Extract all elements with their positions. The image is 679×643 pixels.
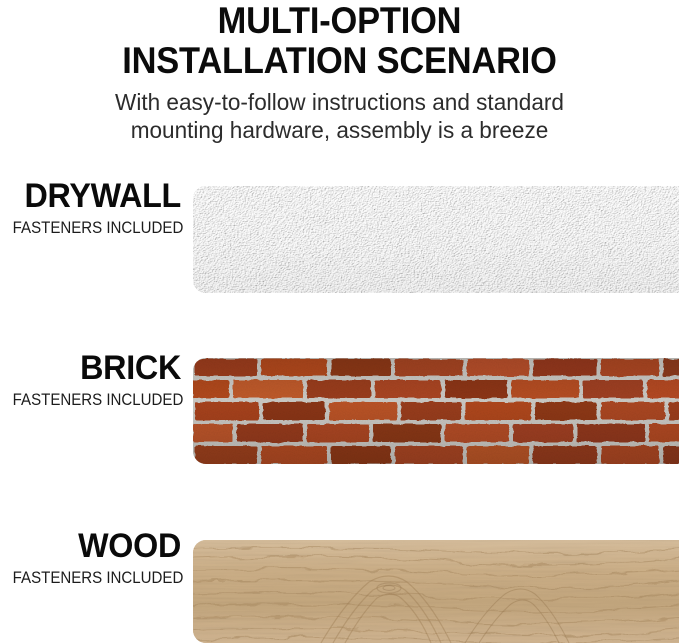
drywall-texture-swatch [193,186,679,293]
wood-material-name: WOOD [9,528,181,564]
brick-texture-swatch [193,358,679,464]
drywall-material-name: DRYWALL [9,178,181,214]
wood-texture-swatch [193,540,679,643]
installation-scenario-infographic: MULTI-OPTION INSTALLATION SCENARIO With … [0,0,679,643]
subtitle-line-2: mounting hardware, assembly is a breeze [14,116,666,144]
page-subtitle: With easy-to-follow instructions and sta… [14,81,666,144]
wood-label-column: WOOD FASTENERS INCLUDED [0,528,181,588]
header-block: MULTI-OPTION INSTALLATION SCENARIO With … [0,0,679,144]
title-line-1: MULTI-OPTION [24,1,655,41]
brick-fasteners-note: FASTENERS INCLUDED [13,386,181,410]
drywall-label-column: DRYWALL FASTENERS INCLUDED [0,178,181,238]
brick-texture-graphic [193,358,679,464]
drywall-fasteners-note: FASTENERS INCLUDED [13,214,181,238]
wood-fasteners-note: FASTENERS INCLUDED [13,564,181,588]
subtitle-line-1: With easy-to-follow instructions and sta… [14,88,666,116]
section-drywall: DRYWALL FASTENERS INCLUDED [0,178,679,310]
page-title: MULTI-OPTION INSTALLATION SCENARIO [24,0,655,81]
drywall-texture-graphic [193,186,679,293]
section-wood: WOOD FASTENERS INCLUDED [0,528,679,643]
wood-texture-graphic [193,540,679,643]
section-brick: BRICK FASTENERS INCLUDED [0,350,679,482]
title-line-2: INSTALLATION SCENARIO [24,41,655,81]
brick-label-column: BRICK FASTENERS INCLUDED [0,350,181,410]
brick-material-name: BRICK [9,350,181,386]
